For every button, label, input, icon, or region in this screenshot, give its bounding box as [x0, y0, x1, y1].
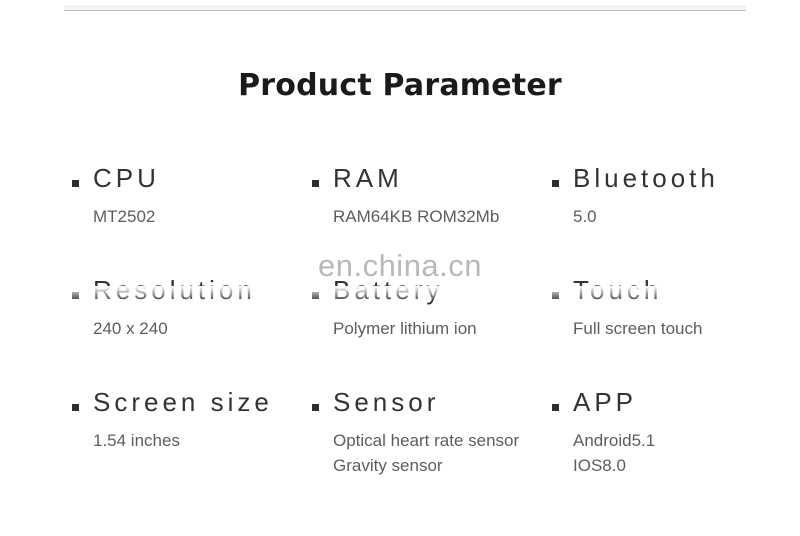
- spec-heading: Battery: [312, 272, 542, 308]
- spec-values: Polymer lithium ion: [333, 316, 542, 341]
- spec-value: 240 x 240: [93, 316, 302, 341]
- spec-heading: CPU: [72, 160, 302, 196]
- spec-label: Resolution: [93, 275, 256, 306]
- spec-label: CPU: [93, 163, 160, 194]
- spec-values: Full screen touch: [573, 316, 786, 341]
- spec-cell-touch: Touch Full screen touch: [542, 272, 786, 384]
- spec-heading: Resolution: [72, 272, 302, 308]
- spec-label: Bluetooth: [573, 163, 719, 194]
- spec-cell-ram: RAM RAM64KB ROM32Mb: [302, 160, 542, 272]
- spec-value: Polymer lithium ion: [333, 316, 542, 341]
- spec-value: RAM64KB ROM32Mb: [333, 204, 542, 229]
- spec-cell-sensor: Sensor Optical heart rate sensor Gravity…: [302, 384, 542, 504]
- spec-label: Screen size: [93, 387, 273, 418]
- spec-values: 1.54 inches: [93, 428, 302, 453]
- spec-value: Android5.1: [573, 428, 786, 453]
- spec-row: Resolution 240 x 240 Battery Polymer lit…: [0, 272, 800, 384]
- spec-values: 5.0: [573, 204, 786, 229]
- top-divider: [64, 6, 746, 11]
- spec-label: Battery: [333, 275, 443, 306]
- spec-value: Full screen touch: [573, 316, 786, 341]
- square-bullet-icon: [72, 292, 79, 299]
- spec-value: Optical heart rate sensor: [333, 428, 542, 453]
- spec-grid: CPU MT2502 RAM RAM64KB ROM32Mb Bluetoo: [0, 160, 800, 504]
- spec-row: CPU MT2502 RAM RAM64KB ROM32Mb Bluetoo: [0, 160, 800, 272]
- spec-value: MT2502: [93, 204, 302, 229]
- spec-heading: Touch: [552, 272, 786, 308]
- spec-heading: RAM: [312, 160, 542, 196]
- spec-label: RAM: [333, 163, 403, 194]
- spec-heading: Bluetooth: [552, 160, 786, 196]
- spec-heading: APP: [552, 384, 786, 420]
- spec-value: Gravity sensor: [333, 453, 542, 478]
- square-bullet-icon: [312, 404, 319, 411]
- spec-value: 5.0: [573, 204, 786, 229]
- page-title: Product Parameter: [0, 68, 800, 103]
- square-bullet-icon: [72, 180, 79, 187]
- spec-value: 1.54 inches: [93, 428, 302, 453]
- square-bullet-icon: [72, 404, 79, 411]
- spec-cell-resolution: Resolution 240 x 240: [62, 272, 302, 384]
- spec-cell-battery: Battery Polymer lithium ion: [302, 272, 542, 384]
- spec-values: 240 x 240: [93, 316, 302, 341]
- square-bullet-icon: [552, 292, 559, 299]
- spec-heading: Screen size: [72, 384, 302, 420]
- spec-values: RAM64KB ROM32Mb: [333, 204, 542, 229]
- square-bullet-icon: [552, 404, 559, 411]
- spec-values: Android5.1 IOS8.0: [573, 428, 786, 478]
- square-bullet-icon: [552, 180, 559, 187]
- spec-cell-screen-size: Screen size 1.54 inches: [62, 384, 302, 504]
- spec-row: Screen size 1.54 inches Sensor Optical h…: [0, 384, 800, 504]
- spec-cell-bluetooth: Bluetooth 5.0: [542, 160, 786, 272]
- product-parameter-page: Product Parameter CPU MT2502 RAM RAM64K: [0, 0, 800, 536]
- square-bullet-icon: [312, 180, 319, 187]
- spec-heading: Sensor: [312, 384, 542, 420]
- square-bullet-icon: [312, 292, 319, 299]
- spec-label: Sensor: [333, 387, 439, 418]
- spec-label: APP: [573, 387, 637, 418]
- spec-label: Touch: [573, 275, 662, 306]
- spec-cell-app: APP Android5.1 IOS8.0: [542, 384, 786, 504]
- spec-cell-cpu: CPU MT2502: [62, 160, 302, 272]
- spec-values: MT2502: [93, 204, 302, 229]
- spec-values: Optical heart rate sensor Gravity sensor: [333, 428, 542, 478]
- spec-value: IOS8.0: [573, 453, 786, 478]
